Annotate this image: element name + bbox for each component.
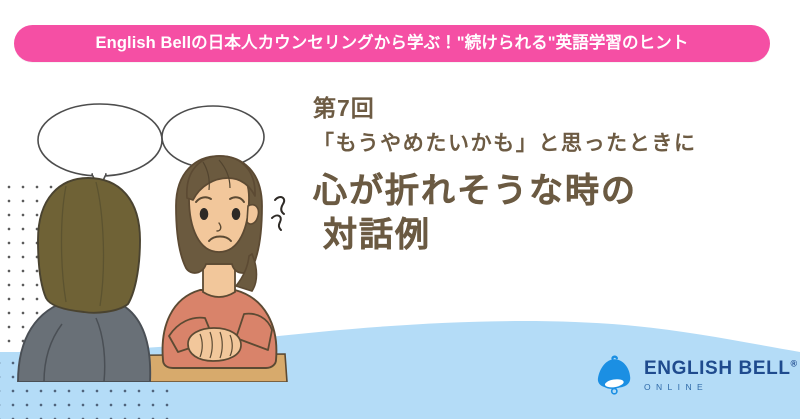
person-worried-student (163, 156, 277, 368)
title-line-1: 心が折れそうな時の (313, 169, 783, 213)
headline-block: 第7回 「もうやめたいかも」と思ったときに 心が折れそうな時の 対話例 (313, 95, 783, 257)
person-counselor-back (18, 178, 150, 382)
logo-tagline: ONLINE (644, 383, 797, 392)
subtitle-line: 「もうやめたいかも」と思ったときに (313, 131, 783, 156)
bell-icon (591, 352, 637, 398)
pink-title-banner: English Bellの日本人カウンセリングから学ぶ！"続けられる"英語学習の… (14, 25, 770, 62)
banner-title-text: English Bellの日本人カウンセリングから学ぶ！"続けられる"英語学習の… (96, 35, 689, 52)
registered-trademark-icon: ® (791, 358, 798, 368)
clasped-hands (188, 328, 241, 361)
illustration-two-women-talking (0, 86, 310, 382)
banner-image-canvas: English Bellの日本人カウンセリングから学ぶ！"続けられる"英語学習の… (0, 0, 800, 419)
logo-wordmark: ENGLISH BELL® (644, 359, 797, 378)
worry-sweat-marks (272, 197, 284, 230)
speech-bubble-left (38, 104, 162, 190)
english-bell-logo[interactable]: ENGLISH BELL® ONLINE (591, 352, 797, 398)
title-line-2: 対話例 (313, 213, 783, 257)
episode-number: 第7回 (313, 95, 783, 121)
logo-brand-text: ENGLISH BELL (644, 358, 791, 379)
